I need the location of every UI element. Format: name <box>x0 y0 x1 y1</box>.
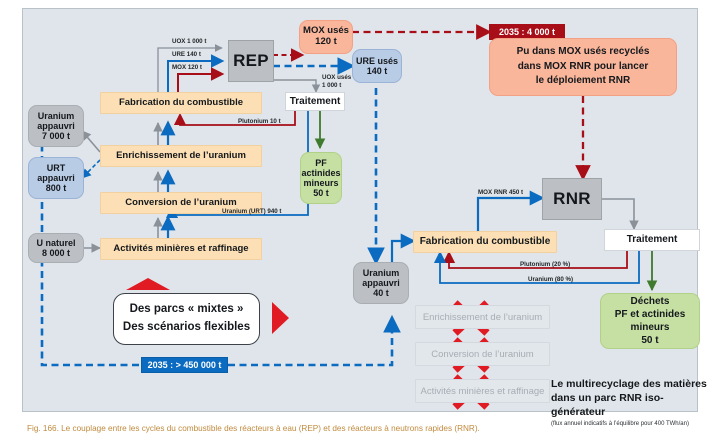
flow-label-mox-in: MOX 120 t <box>172 64 202 71</box>
material-line-4: 50 t <box>641 334 658 347</box>
disabled-step-label: Activités minières et raffinage <box>421 386 545 397</box>
material-line-3: 40 t <box>373 288 389 298</box>
process-enrichissement-rep[interactable]: Enrichissement de l’uranium <box>100 145 262 167</box>
callout-parcs-mixtes: Des parcs « mixtes » Des scénarios flexi… <box>113 293 260 345</box>
process-label: Fabrication du combustible <box>420 236 551 247</box>
treatment-rep[interactable]: Traitement <box>285 92 345 111</box>
material-line-1: Uranium <box>363 268 400 278</box>
disabled-step-conversion: Conversion de l’uranium <box>415 342 550 366</box>
material-dechets-pf-actinides-50t[interactable]: Déchets PF et actinides mineurs 50 t <box>600 293 700 349</box>
material-line-2: appauvri <box>362 278 400 288</box>
material-mox-uses-120t[interactable]: MOX usés 120 t <box>299 20 353 54</box>
process-label: Fabrication du combustible <box>119 98 243 109</box>
material-line-1: URE usés <box>356 56 398 66</box>
process-label: Conversion de l’uranium <box>125 198 236 209</box>
reactor-label: RNR <box>553 189 591 208</box>
treatment-label: Traitement <box>290 96 341 107</box>
material-line-4: 50 t <box>313 188 329 198</box>
material-line-1: URT <box>47 163 66 173</box>
treatment-label: Traitement <box>627 234 678 245</box>
material-uranium-appauvri-7000t[interactable]: Uranium appauvri 7 000 t <box>28 105 84 147</box>
badge-label: 2035 : 4 000 t <box>499 27 555 37</box>
badge-label: 2035 : > 450 000 t <box>148 360 222 370</box>
material-line-2: 140 t <box>367 66 388 76</box>
material-line-2: appauvri <box>37 121 75 131</box>
process-activites-minieres-rep[interactable]: Activités minières et raffinage <box>100 238 262 260</box>
material-line-1: Uranium <box>38 111 75 121</box>
process-label: Activités minières et raffinage <box>113 244 248 255</box>
disabled-step-enrichissement: Enrichissement de l’uranium <box>415 305 550 329</box>
material-u-naturel-8000t[interactable]: U naturel 8 000 t <box>28 233 84 263</box>
reactor-rep[interactable]: REP <box>228 40 274 82</box>
disabled-step-activites-minieres: Activités minières et raffinage <box>415 379 550 403</box>
material-line-3: mineurs <box>631 321 670 334</box>
flow-label-mox-rnr: MOX RNR 450 t <box>478 189 523 196</box>
treatment-rnr[interactable]: Traitement <box>604 229 700 251</box>
figure-caption: Fig. 166. Le couplage entre les cycles d… <box>27 424 697 435</box>
flow-label-plutonium-rep: Plutonium 10 t <box>238 118 281 125</box>
material-line-1: U naturel <box>36 238 75 248</box>
process-fabrication-rep[interactable]: Fabrication du combustible <box>100 92 262 114</box>
material-line-2: appauvri <box>37 173 75 183</box>
callout-line-2: dans MOX RNR pour lancer <box>518 60 649 75</box>
legend-line-2: dans un parc RNR iso-générateur <box>551 391 711 419</box>
material-line-2: actinides <box>301 168 340 178</box>
legend-line-1: Le multirecyclage des matières <box>551 377 711 391</box>
material-uranium-appauvri-40t[interactable]: Uranium appauvri 40 t <box>353 262 409 304</box>
flow-label-plutonium-rnr: Plutonium (20 %) <box>520 261 570 268</box>
badge-stock-2035: 2035 : > 450 000 t <box>141 357 228 373</box>
figure-page: Fabrication du combustible Enrichissemen… <box>0 0 720 445</box>
flow-label-uranium-urt: Uranium (URT) 940 t <box>222 208 281 215</box>
material-line-3: 800 t <box>46 183 67 193</box>
material-line-2: PF et actinides <box>615 308 686 321</box>
flow-label-uranium-rnr: Uranium (80 %) <box>528 276 573 283</box>
disabled-step-label: Conversion de l’uranium <box>431 349 533 360</box>
reactor-label: REP <box>233 51 269 70</box>
material-line-1: PF <box>315 158 327 168</box>
disabled-step-label: Enrichissement de l’uranium <box>423 312 542 323</box>
material-pf-actinides-mineurs-50t-rep[interactable]: PF actinides mineurs 50 t <box>300 152 342 204</box>
flow-label-uox-in: UOX 1 000 t <box>172 38 206 45</box>
material-urt-appauvri-800t[interactable]: URT appauvri 800 t <box>28 157 84 199</box>
process-fabrication-rnr[interactable]: Fabrication du combustible <box>413 231 557 253</box>
material-ure-uses-140t[interactable]: URE usés 140 t <box>352 49 402 83</box>
material-line-2: 8 000 t <box>42 248 70 258</box>
material-line-1: Déchets <box>631 295 670 308</box>
material-line-2: 120 t <box>315 37 337 48</box>
material-line-3: mineurs <box>303 178 338 188</box>
material-line-3: 7 000 t <box>42 131 70 141</box>
mixtes-line-1: Des parcs « mixtes » <box>130 301 244 319</box>
callout-pu-mox-rnr: Pu dans MOX usés recyclés dans MOX RNR p… <box>489 38 677 96</box>
legend-multirecyclage: Le multirecyclage des matières dans un p… <box>551 377 711 427</box>
flow-label-uox-used-line2: 1 000 t <box>322 82 341 89</box>
reactor-rnr[interactable]: RNR <box>542 178 602 220</box>
mixtes-line-2: Des scénarios flexibles <box>123 319 250 337</box>
flow-label-uox-used-line1: UOX usés <box>322 74 351 81</box>
callout-line-3: le déploiement RNR <box>536 74 630 89</box>
process-label: Enrichissement de l’uranium <box>116 151 246 162</box>
callout-line-1: Pu dans MOX usés recyclés <box>517 45 650 60</box>
flow-label-ure-in: URE 140 t <box>172 51 201 58</box>
